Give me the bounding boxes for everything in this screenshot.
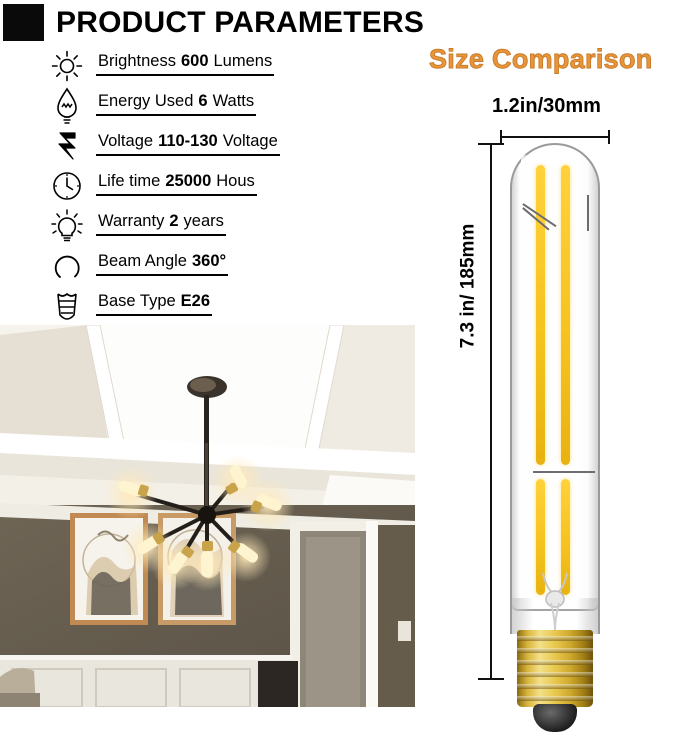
spec-text-base-type: Base TypeE26 xyxy=(96,290,212,316)
spec-row-beam-angle: Beam Angle360° xyxy=(44,246,374,286)
screw-base-icon xyxy=(44,286,90,326)
spec-text-beam-angle: Beam Angle360° xyxy=(96,250,228,276)
spec-text-voltage: Voltage110-130Voltage xyxy=(96,130,280,156)
size-comparison-title: Size Comparison xyxy=(429,44,653,75)
sun-brightness-icon xyxy=(44,46,90,86)
spec-label: Energy Used xyxy=(98,92,193,110)
spec-text-warranty: Warranty2years xyxy=(96,210,226,236)
spec-row-life-time: Life time25000Hous xyxy=(44,166,374,206)
spec-unit: Hous xyxy=(216,172,255,190)
e26-screw-base xyxy=(517,630,593,707)
spec-label: Brightness xyxy=(98,52,176,70)
spec-label: Life time xyxy=(98,172,160,190)
spec-value: 6 xyxy=(198,92,207,110)
spec-unit: Voltage xyxy=(223,132,278,150)
shining-bulb-icon xyxy=(44,206,90,246)
spec-row-energy-used: Energy Used6Watts xyxy=(44,86,374,126)
bulb-illustration xyxy=(503,143,608,680)
spec-value: 360° xyxy=(192,252,226,270)
spec-text-brightness: Brightness600Lumens xyxy=(96,50,274,76)
filament-right xyxy=(561,165,570,465)
spec-text-energy-used: Energy Used6Watts xyxy=(96,90,256,116)
height-dimension-line xyxy=(478,143,504,680)
clock-icon xyxy=(44,166,90,206)
spec-value: 2 xyxy=(169,212,178,230)
spec-label: Warranty xyxy=(98,212,164,230)
spec-row-brightness: Brightness600Lumens xyxy=(44,46,374,86)
spec-label: Voltage xyxy=(98,132,153,150)
spec-value: 110-130 xyxy=(158,132,218,150)
spec-text-life-time: Life time25000Hous xyxy=(96,170,257,196)
bulb-width-label: 1.2in/30mm xyxy=(492,95,601,118)
spec-unit: Lumens xyxy=(214,52,273,70)
base-contact-tip xyxy=(533,704,577,732)
page-title: PRODUCT PARAMETERS xyxy=(56,5,424,41)
spec-row-voltage: Voltage110-130Voltage xyxy=(44,126,374,166)
brand-logo-square xyxy=(3,4,44,41)
spec-unit: Watts xyxy=(213,92,255,110)
product-parameters-list: Brightness600Lumens Energy Used6Watts Vo… xyxy=(44,46,374,326)
lightning-bolt-icon xyxy=(44,126,90,166)
spec-row-base-type: Base TypeE26 xyxy=(44,286,374,326)
filament-left xyxy=(536,165,545,465)
spec-label: Beam Angle xyxy=(98,252,187,270)
spec-label: Base Type xyxy=(98,292,176,310)
support-wire-right xyxy=(587,195,589,231)
beam-arc-icon xyxy=(44,246,90,286)
room-photo xyxy=(0,325,415,707)
spec-unit: years xyxy=(184,212,224,230)
filament-bulb-icon xyxy=(44,86,90,126)
spec-value: E26 xyxy=(181,292,210,310)
bulb-stem xyxy=(537,573,573,633)
bulb-height-label: 7.3 in/ 185mm xyxy=(457,224,479,349)
width-dimension-line xyxy=(500,130,610,144)
filament-crossbar xyxy=(533,471,595,473)
spec-row-warranty: Warranty2years xyxy=(44,206,374,246)
spec-value: 600 xyxy=(181,52,209,70)
spec-value: 25000 xyxy=(165,172,211,190)
